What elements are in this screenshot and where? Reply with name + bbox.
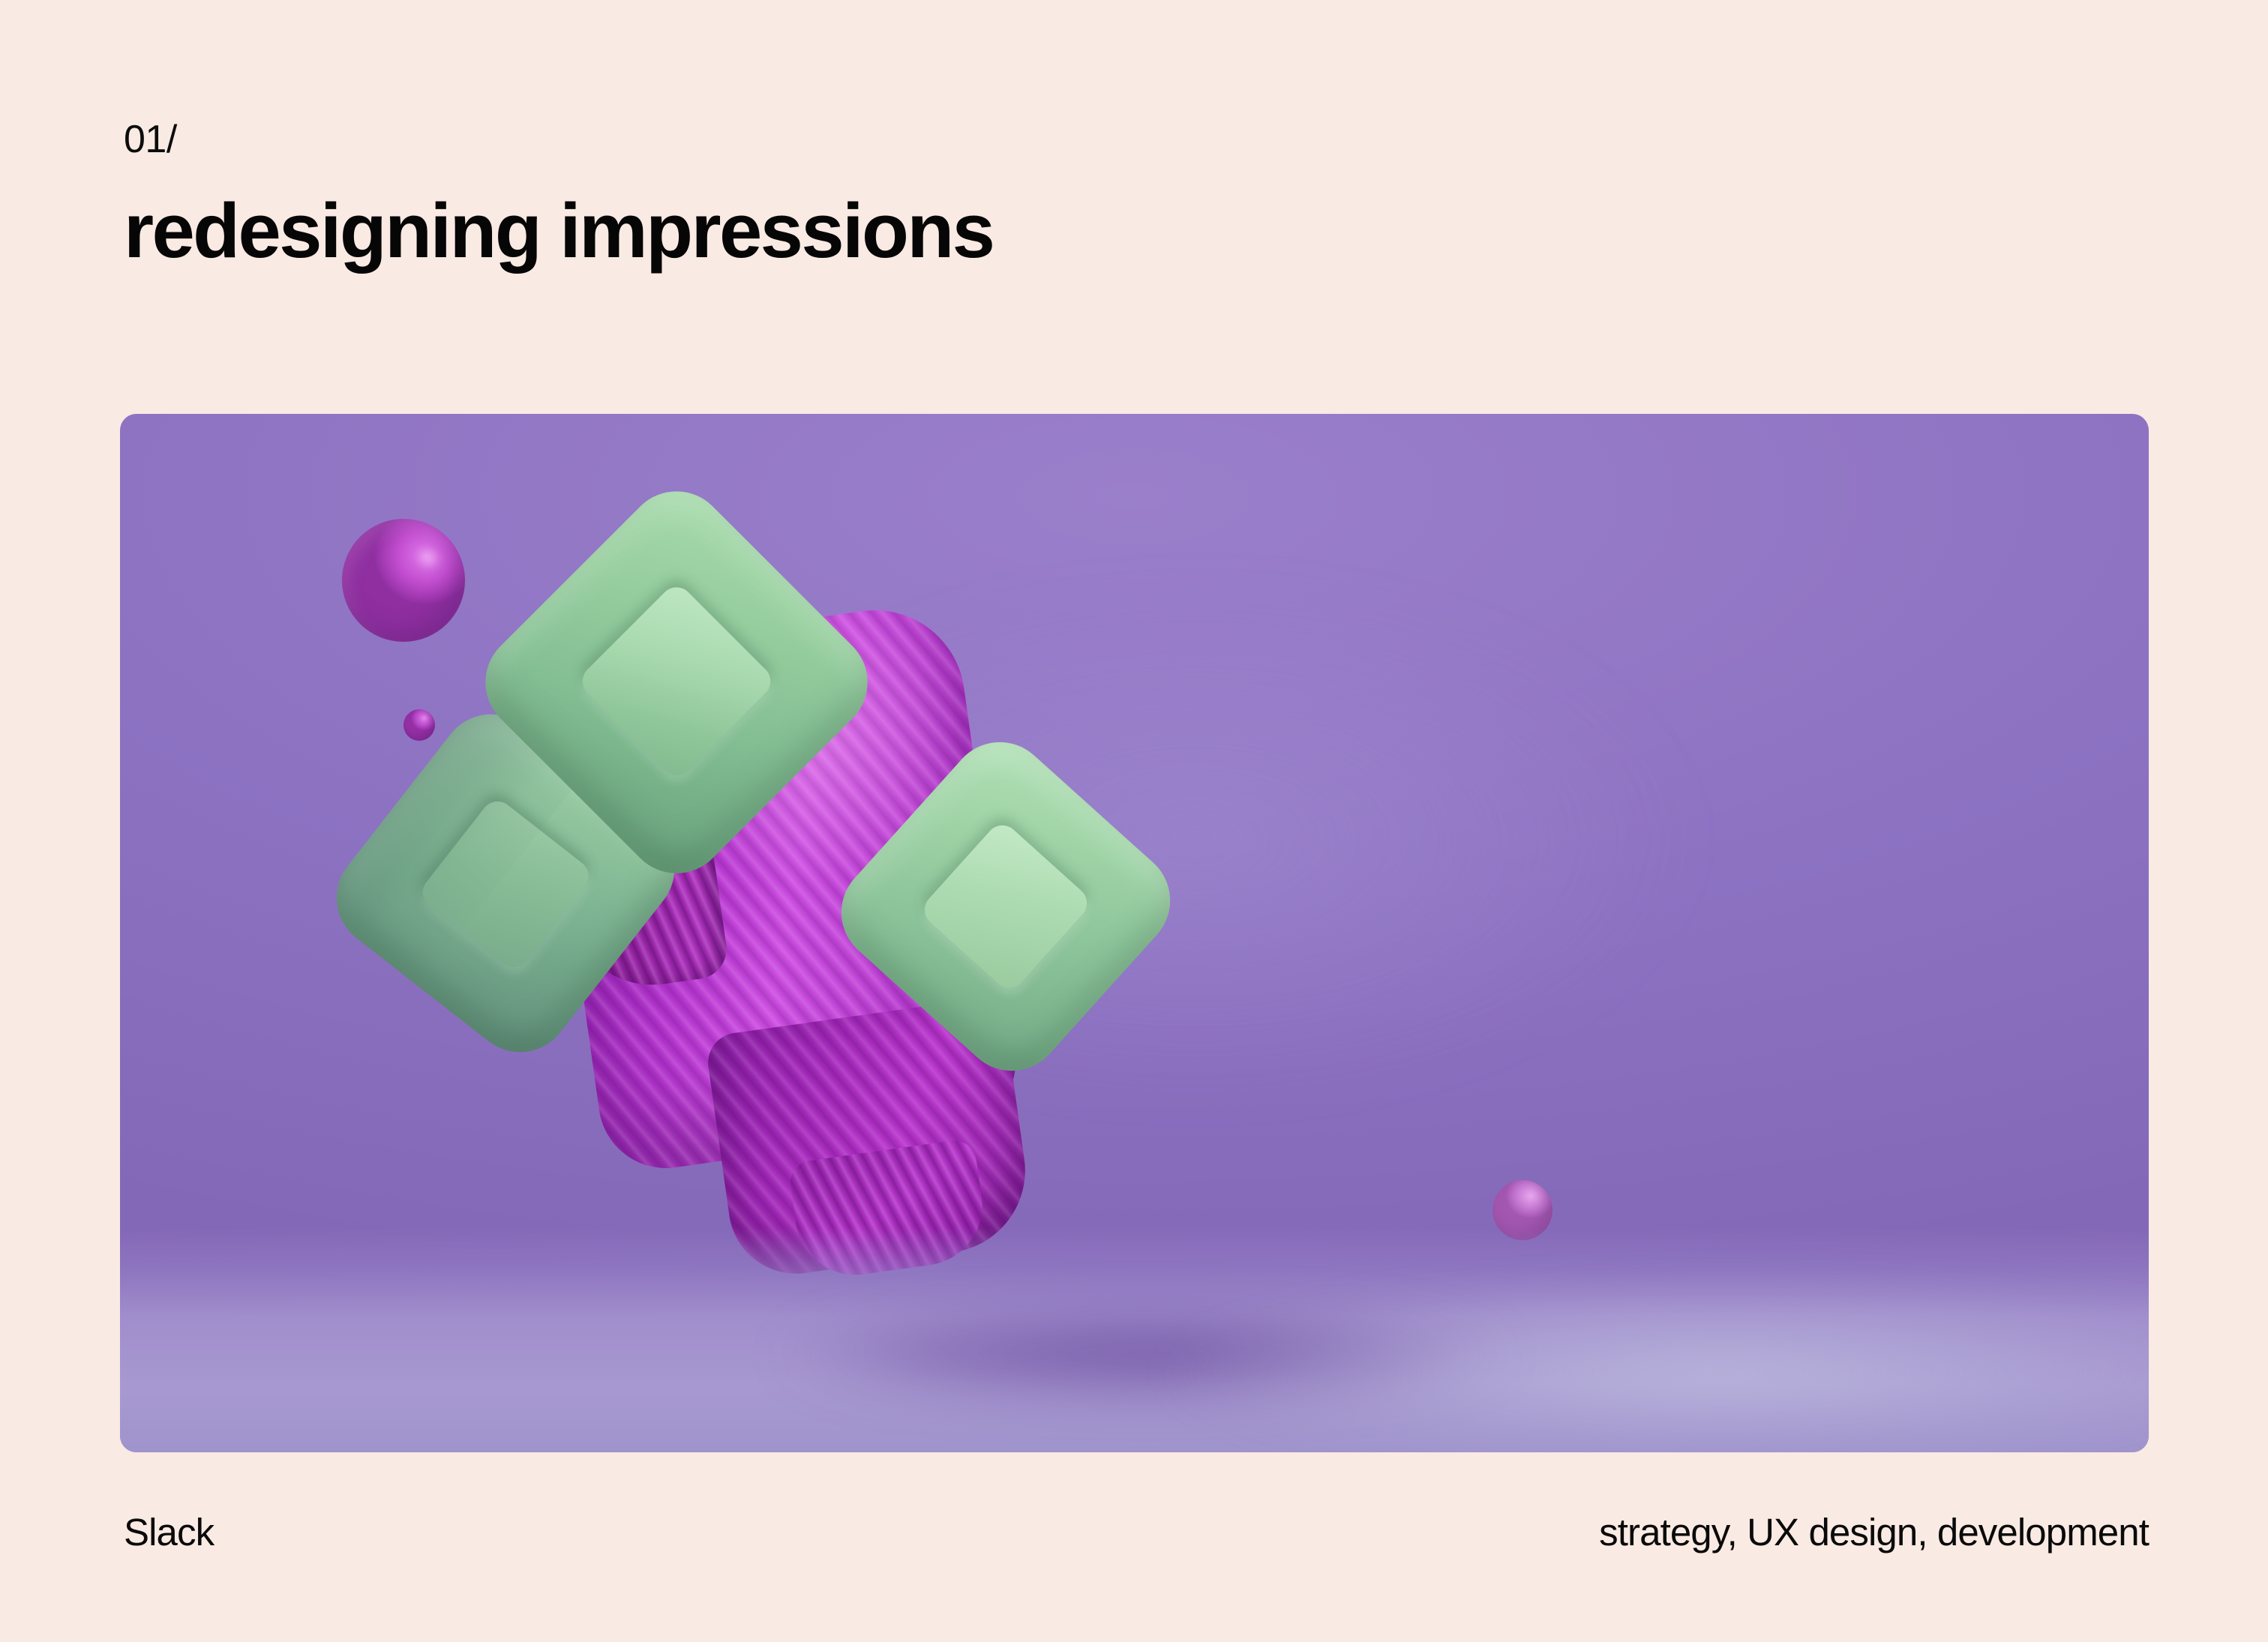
slide-index-label: 01/ (124, 120, 1624, 159)
page-title: redesigning impressions (124, 192, 1624, 269)
sphere-magenta-large (342, 519, 465, 642)
cube-green-left-inset (416, 795, 595, 974)
case-study-slide: 01/ redesigning impressions (0, 0, 2268, 1642)
slide-header: 01/ redesigning impressions (124, 120, 1624, 269)
project-client-name: Slack (124, 1513, 214, 1551)
cube-green-top-inset (576, 580, 778, 782)
floor-light-sheen (1093, 1265, 2149, 1445)
project-cover-image[interactable] (120, 414, 2149, 1452)
cube-green-right-inset (918, 819, 1093, 994)
slide-footer: Slack strategy, UX design, development (124, 1513, 2149, 1551)
sphere-magenta-small-upper (403, 709, 435, 741)
project-services-list: strategy, UX design, development (1599, 1513, 2149, 1551)
